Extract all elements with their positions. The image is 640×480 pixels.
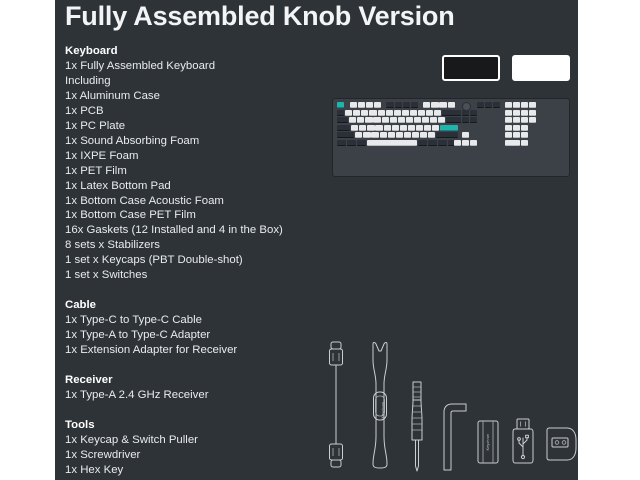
- keyboard-key: [378, 110, 385, 116]
- keyboard-key: [426, 110, 433, 116]
- keyboard-key: [454, 110, 461, 116]
- extension-adapter-illustration: Keychron: [475, 418, 501, 466]
- keyboard-key: [513, 117, 520, 123]
- keyboard-key: [350, 102, 357, 108]
- keyboard-key: [440, 125, 457, 131]
- keyboard-key: [411, 102, 418, 108]
- keyboard-key: [436, 132, 457, 138]
- spec-item: 1x Screwdriver: [65, 448, 325, 463]
- keyboard-key: [402, 110, 409, 116]
- keyboard-key: [513, 132, 520, 138]
- keyboard-key: [513, 110, 520, 116]
- keyboard-key: [396, 132, 403, 138]
- keyboard-image: [332, 98, 570, 177]
- keyboard-key: [357, 140, 366, 146]
- spec-item: 1 set x Keycaps (PBT Double-shot): [65, 253, 325, 268]
- keyboard-key: [365, 117, 372, 123]
- section-heading: Keyboard: [65, 44, 325, 59]
- keyboard-key: [521, 140, 528, 146]
- spec-item: 1x Fully Assembled Keyboard: [65, 59, 325, 74]
- spec-item: 1x Type-C to Type-C Cable: [65, 313, 325, 328]
- keyboard-key: [392, 125, 399, 131]
- keyboard-key: [395, 102, 402, 108]
- spec-item: 1x Sound Absorbing Foam: [65, 134, 325, 149]
- keyboard-key: [394, 110, 401, 116]
- keycap-switch-puller-illustration: Keychron: [360, 340, 400, 470]
- keyboard-key: [462, 110, 469, 116]
- spec-list: Keyboard1x Fully Assembled KeyboardInclu…: [65, 44, 325, 478]
- keyboard-key: [418, 140, 427, 146]
- section-spacer: [65, 403, 325, 418]
- keyboard-key: [408, 125, 415, 131]
- spec-item: 1x Type-A 2.4 GHz Receiver: [65, 388, 325, 403]
- section-heading: Cable: [65, 298, 325, 313]
- spec-item: 1x PCB: [65, 104, 325, 119]
- keyboard-key: [513, 125, 520, 131]
- keyboard-key: [358, 102, 365, 108]
- keyboard-key: [420, 132, 427, 138]
- keyboard-key: [521, 125, 528, 131]
- keyboard-key: [505, 140, 520, 146]
- keyboard-key: [337, 102, 344, 108]
- keyboard-key: [363, 132, 370, 138]
- usb-receiver-dongle-illustration: [510, 416, 536, 468]
- spec-item: 1x Latex Bottom Pad: [65, 179, 325, 194]
- keyboard-key: [374, 102, 381, 108]
- keyboard-key: [345, 110, 352, 116]
- puller-brand-label: Keychron: [381, 402, 385, 419]
- keyboard-key: [349, 117, 356, 123]
- section-heading: Tools: [65, 418, 325, 433]
- keyboard-key: [400, 125, 407, 131]
- keyboard-key: [384, 125, 391, 131]
- keyboard-key: [367, 140, 417, 146]
- screwdriver-illustration: [407, 378, 427, 474]
- keyboard-key: [454, 140, 461, 146]
- keyboard-key: [454, 117, 461, 123]
- keyboard-key: [337, 140, 346, 146]
- keyboard-key: [505, 110, 512, 116]
- keyboard-key: [505, 125, 512, 131]
- section-heading: Receiver: [65, 373, 325, 388]
- spec-item: 1x Type-A to Type-C Adapter: [65, 328, 325, 343]
- spec-item: 1x IXPE Foam: [65, 149, 325, 164]
- keyboard-key: [422, 117, 429, 123]
- keyboard-key: [337, 132, 354, 138]
- page-title: Fully Assembled Knob Version: [65, 1, 455, 32]
- keyboard-key: [428, 132, 435, 138]
- keyboard-key: [414, 117, 421, 123]
- spec-item: 1x Extension Adapter for Receiver: [65, 343, 325, 358]
- keyboard-key: [412, 132, 419, 138]
- keyboard-key: [439, 102, 446, 108]
- keyboard-key: [521, 102, 528, 108]
- keyboard-key: [371, 132, 378, 138]
- keyboard-key: [380, 132, 387, 138]
- keyboard-key: [428, 140, 437, 146]
- content-panel: Fully Assembled Knob Version Keyboard1x …: [55, 0, 578, 480]
- keyboard-keys: [337, 102, 567, 169]
- spec-item: 8 sets x Stabilizers: [65, 238, 325, 253]
- keyboard-key: [337, 110, 344, 116]
- keyboard-key: [367, 125, 374, 131]
- keyboard-key: [361, 110, 368, 116]
- type-a-to-type-c-adapter-illustration: [545, 420, 578, 466]
- keyboard-key: [505, 102, 512, 108]
- keyboard-key: [347, 140, 356, 146]
- keyboard-key: [410, 110, 417, 116]
- keyboard-key: [337, 117, 348, 123]
- keyboard-key: [375, 125, 382, 131]
- adapter-brand-label: Keychron: [486, 434, 490, 451]
- spec-item: 1x Aluminum Case: [65, 89, 325, 104]
- keyboard-key: [470, 140, 477, 146]
- keyboard-key: [404, 132, 411, 138]
- keyboard-key: [521, 117, 528, 123]
- spec-item: Including: [65, 74, 325, 89]
- spec-item: 1x Hex Key: [65, 463, 325, 478]
- spec-item: 1 set x Switches: [65, 268, 325, 283]
- keyboard-key: [470, 110, 477, 116]
- keyboard-key: [438, 117, 445, 123]
- keyboard-key: [366, 102, 373, 108]
- keyboard-key: [470, 117, 477, 123]
- spec-item: 1x PC Plate: [65, 119, 325, 134]
- keyboard-key: [529, 110, 536, 116]
- keyboard-key: [337, 125, 350, 131]
- section-spacer: [65, 358, 325, 373]
- keyboard-key: [386, 102, 393, 108]
- black-colorway-swatch[interactable]: [442, 55, 500, 81]
- keyboard-key: [423, 102, 430, 108]
- keyboard-key: [353, 110, 360, 116]
- keyboard-key: [431, 102, 438, 108]
- keyboard-key: [432, 125, 439, 131]
- keyboard-key: [434, 110, 441, 116]
- section-spacer: [65, 283, 325, 298]
- keyboard-key: [403, 102, 410, 108]
- keyboard-key: [357, 117, 364, 123]
- keyboard-key: [359, 125, 366, 131]
- keyboard-key: [505, 117, 512, 123]
- keyboard-key: [477, 102, 484, 108]
- spec-item: 1x PET Film: [65, 164, 325, 179]
- keyboard-key: [373, 117, 380, 123]
- hex-key-illustration: [441, 398, 471, 474]
- keyboard-key: [462, 117, 469, 123]
- white-colorway-swatch[interactable]: [512, 55, 570, 81]
- keyboard-key: [388, 132, 395, 138]
- keyboard-key: [416, 125, 423, 131]
- type-c-cable-illustration: [323, 340, 349, 470]
- keyboard-key: [521, 132, 528, 138]
- keyboard-key: [369, 110, 376, 116]
- keyboard-key: [493, 102, 500, 108]
- keyboard-key: [462, 140, 469, 146]
- keyboard-key: [382, 117, 389, 123]
- keyboard-key: [485, 102, 492, 108]
- keyboard-key: [406, 117, 413, 123]
- keyboard-key: [505, 132, 512, 138]
- spec-item: 1x Keycap & Switch Puller: [65, 433, 325, 448]
- keyboard-key: [418, 110, 425, 116]
- spec-item: 1x Bottom Case Acoustic Foam: [65, 194, 325, 209]
- keyboard-key: [462, 132, 469, 138]
- keyboard-key: [529, 117, 536, 123]
- keyboard-key: [513, 102, 520, 108]
- keyboard-key: [355, 132, 362, 138]
- keyboard-key: [521, 110, 528, 116]
- spec-item: 16x Gaskets (12 Installed and 4 in the B…: [65, 223, 325, 238]
- keyboard-key: [430, 117, 437, 123]
- keyboard-key: [438, 140, 447, 146]
- keyboard-key: [424, 125, 431, 131]
- product-spec-page: Fully Assembled Knob Version Keyboard1x …: [0, 0, 640, 480]
- keyboard-key: [448, 102, 455, 108]
- usb-icon: [518, 435, 529, 458]
- keyboard-key: [529, 102, 536, 108]
- keyboard-key: [390, 117, 397, 123]
- keyboard-key: [398, 117, 405, 123]
- keyboard-key: [351, 125, 358, 131]
- spec-item: 1x Bottom Case PET Film: [65, 208, 325, 223]
- keyboard-key: [386, 110, 393, 116]
